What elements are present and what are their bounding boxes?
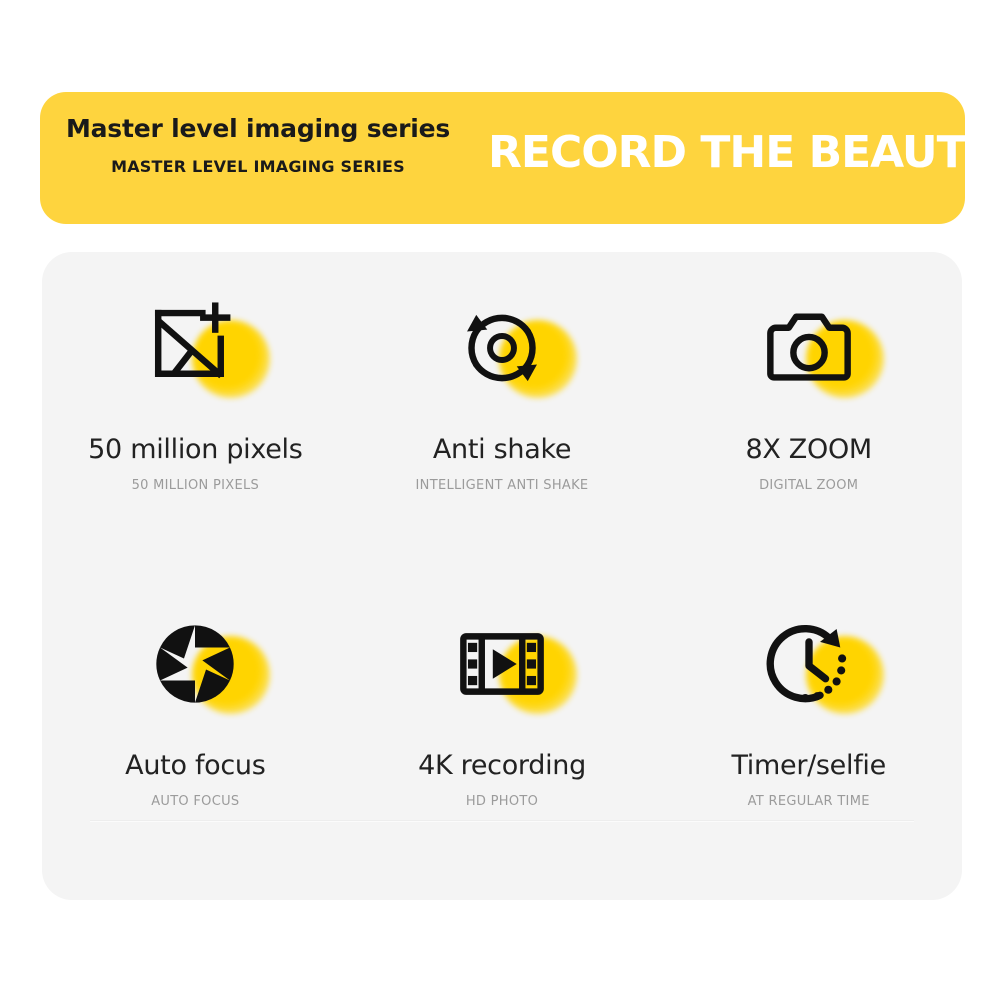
feature-item-pixels[interactable]: 50 million pixels 50 MILLION PIXELS bbox=[42, 288, 349, 578]
feature-icon-wrap bbox=[130, 604, 260, 724]
feature-item-recording[interactable]: 4K recording HD PHOTO bbox=[349, 604, 656, 894]
feature-icon-wrap bbox=[744, 604, 874, 724]
aperture-icon bbox=[149, 618, 241, 710]
feature-icon-wrap bbox=[437, 288, 567, 408]
feature-item-zoom[interactable]: 8X ZOOM DIGITAL ZOOM bbox=[655, 288, 962, 578]
feature-subtitle: INTELLIGENT ANTI SHAKE bbox=[416, 478, 589, 493]
feature-subtitle: AT REGULAR TIME bbox=[748, 794, 870, 809]
features-row-bottom: Auto focus AUTO FOCUS bbox=[42, 604, 962, 894]
feature-title: Anti shake bbox=[433, 434, 571, 465]
feature-subtitle: HD PHOTO bbox=[466, 794, 538, 809]
header-banner: Master level imaging series MASTER LEVEL… bbox=[40, 92, 965, 224]
feature-item-timer[interactable]: Timer/selfie AT REGULAR TIME bbox=[655, 604, 962, 894]
banner-title-secondary: MASTER LEVEL IMAGING SERIES bbox=[111, 157, 405, 176]
clock-timer-icon bbox=[763, 618, 855, 710]
banner-headline: RECORD THE BEAUTY bbox=[488, 120, 958, 186]
camera-icon bbox=[763, 302, 855, 394]
image-plus-icon bbox=[149, 302, 241, 394]
feature-icon-wrap bbox=[130, 288, 260, 408]
features-row-top: 50 million pixels 50 MILLION PIXELS bbox=[42, 288, 962, 578]
feature-item-auto-focus[interactable]: Auto focus AUTO FOCUS bbox=[42, 604, 349, 894]
film-play-icon bbox=[456, 618, 548, 710]
feature-icon-wrap bbox=[437, 604, 567, 724]
features-card: 50 million pixels 50 MILLION PIXELS bbox=[42, 252, 962, 900]
feature-subtitle: AUTO FOCUS bbox=[151, 794, 239, 809]
feature-title: 50 million pixels bbox=[88, 434, 302, 465]
feature-title: 8X ZOOM bbox=[745, 434, 871, 465]
banner-title-primary: Master level imaging series bbox=[66, 114, 450, 143]
feature-title: Timer/selfie bbox=[731, 750, 885, 781]
banner-headline-group: RECORD THE BEAUTY bbox=[488, 120, 958, 186]
promo-page: Master level imaging series MASTER LEVEL… bbox=[0, 0, 1000, 1000]
feature-subtitle: 50 MILLION PIXELS bbox=[132, 478, 260, 493]
feature-item-anti-shake[interactable]: Anti shake INTELLIGENT ANTI SHAKE bbox=[349, 288, 656, 578]
banner-title-group: Master level imaging series MASTER LEVEL… bbox=[68, 114, 448, 176]
rotate-stabilize-icon bbox=[456, 302, 548, 394]
feature-title: 4K recording bbox=[418, 750, 586, 781]
feature-title: Auto focus bbox=[125, 750, 265, 781]
feature-icon-wrap bbox=[744, 288, 874, 408]
feature-subtitle: DIGITAL ZOOM bbox=[759, 478, 858, 493]
